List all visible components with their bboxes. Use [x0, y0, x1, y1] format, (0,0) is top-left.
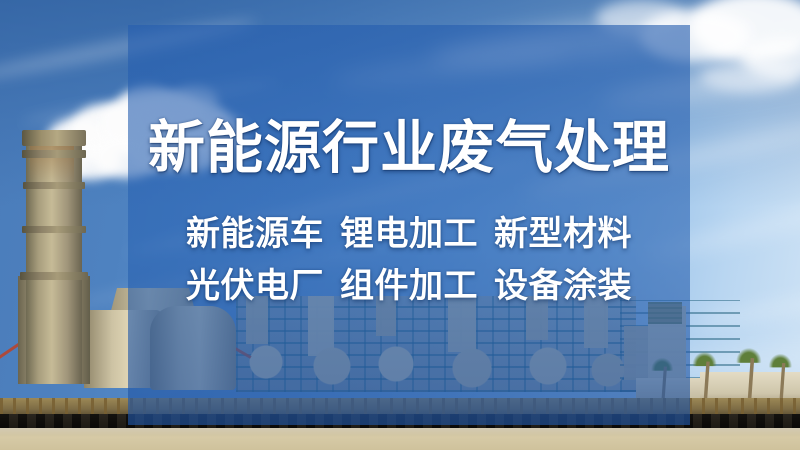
smokestack-band [23, 182, 85, 189]
banner-subtitle-line-2: 光伏电厂组件加工设备涂装 [186, 269, 632, 303]
subtitle-item-new-energy-vehicle: 新能源车 [186, 215, 324, 253]
subtitle-item-lithium-battery-processing: 锂电加工 [340, 215, 478, 253]
shoreline-sheen [0, 428, 800, 436]
subtitle-item-equipment-coating: 设备涂装 [494, 267, 632, 305]
subtitle-item-new-materials: 新型材料 [494, 215, 632, 253]
subtitle-item-pv-power-plant: 光伏电厂 [186, 267, 324, 305]
smokestack-band [22, 150, 86, 158]
banner-headline: 新能源行业废气处理 [148, 119, 670, 177]
cumulus-cloud [700, 62, 800, 92]
smokestack-cap [22, 130, 86, 146]
smokestack-band [20, 272, 88, 280]
banner-subtitle-line-1: 新能源车锂电加工新型材料 [186, 217, 632, 251]
subtitle-item-component-processing: 组件加工 [340, 267, 478, 305]
hero-banner: 新能源行业废气处理 新能源车锂电加工新型材料 光伏电厂组件加工设备涂装 [0, 0, 800, 450]
banner-text-block: 新能源行业废气处理 新能源车锂电加工新型材料 光伏电厂组件加工设备涂装 [128, 25, 690, 425]
smokestack-rust [30, 140, 74, 184]
smokestack-band [22, 226, 86, 233]
